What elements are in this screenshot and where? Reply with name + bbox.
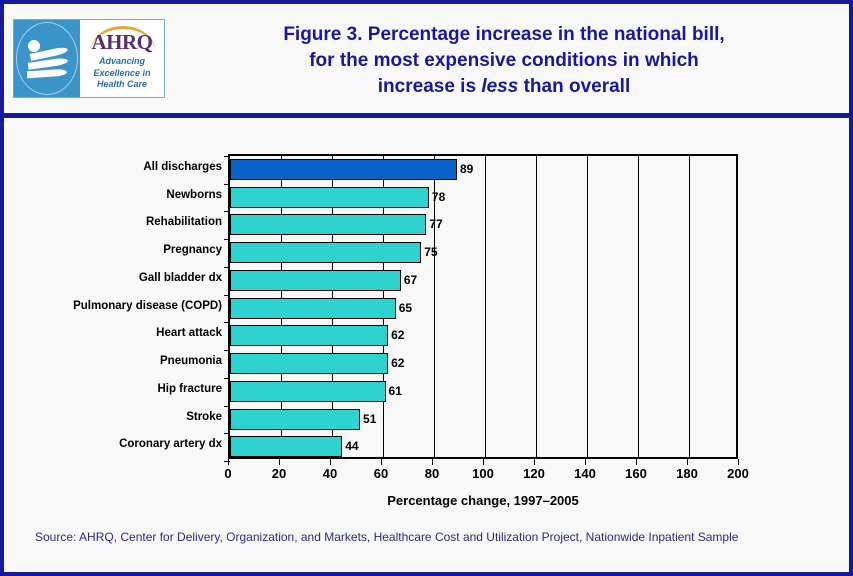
x-tick-label-100: 100	[472, 466, 494, 481]
x-tick-mark-0	[228, 459, 229, 465]
bar-value-label: 62	[388, 353, 404, 374]
x-tick-label-180: 180	[676, 466, 698, 481]
figure-title-line-2: for the most expensive conditions in whi…	[169, 48, 839, 74]
y-axis-label-rehabilitation: Rehabilitation	[4, 212, 222, 233]
figure-title-line-3-post: than overall	[518, 76, 630, 97]
x-tick-mark-160	[636, 459, 637, 465]
y-tick-mark	[224, 295, 230, 296]
y-tick-mark	[224, 322, 230, 323]
x-tick-mark-40	[330, 459, 331, 465]
x-tick-mark-120	[534, 459, 535, 465]
x-tick-mark-200	[738, 459, 739, 465]
x-axis-title: Percentage change, 1997–2005	[228, 493, 738, 508]
ahrq-wordmark-block: AHRQ Advancing Excellence in Health Care	[80, 20, 164, 97]
figure-title-line-1: Figure 3. Percentage increase in the nat…	[169, 22, 839, 48]
y-axis-label-hip-fracture: Hip fracture	[4, 379, 222, 400]
bar-row: 77	[230, 211, 736, 239]
bar-row: 67	[230, 267, 736, 295]
y-axis-label-stroke: Stroke	[4, 407, 222, 428]
x-tick-label-0: 0	[224, 466, 231, 481]
x-tick-mark-20	[279, 459, 280, 465]
bar-value-label: 75	[421, 242, 437, 263]
hhs-department-seal-icon	[14, 20, 80, 97]
x-tick-label-160: 160	[625, 466, 647, 481]
seal-bird-head	[28, 40, 40, 52]
bar-row: 51	[230, 406, 736, 434]
ahrq-tagline: Advancing Excellence in Health Care	[80, 56, 164, 91]
bar-row: 62	[230, 350, 736, 378]
bar-series: 8978777567656262615144	[230, 156, 736, 457]
x-tick-mark-60	[381, 459, 382, 465]
y-axis-label-pregnancy: Pregnancy	[4, 240, 222, 261]
bar-value-label: 44	[342, 436, 358, 457]
x-tick-mark-80	[432, 459, 433, 465]
x-tick-label-200: 200	[727, 466, 749, 481]
bar-row: 78	[230, 184, 736, 212]
figure-title-line-3-pre: increase is	[378, 76, 482, 97]
figure-page: AHRQ Advancing Excellence in Health Care…	[0, 0, 853, 576]
ahrq-wordmark: AHRQ	[80, 30, 164, 55]
figure-title-emphasis: less	[481, 76, 518, 97]
bar-rehabilitation	[230, 214, 426, 235]
x-tick-mark-140	[585, 459, 586, 465]
y-tick-mark	[224, 211, 230, 212]
bar-pulmonary-disease-copd	[230, 298, 396, 319]
bar-heart-attack	[230, 325, 388, 346]
y-tick-mark	[224, 350, 230, 351]
y-axis-label-gall-bladder-dx: Gall bladder dx	[4, 268, 222, 289]
bar-value-label: 77	[426, 214, 442, 235]
y-axis-label-heart-attack: Heart attack	[4, 323, 222, 344]
x-tick-label-120: 120	[523, 466, 545, 481]
bar-newborns	[230, 187, 429, 208]
bar-row: 89	[230, 156, 736, 184]
bar-pregnancy	[230, 242, 421, 263]
y-axis-label-pulmonary-disease-copd: Pulmonary disease (COPD)	[4, 296, 222, 317]
bar-pneumonia	[230, 353, 388, 374]
y-tick-mark	[224, 433, 230, 434]
y-tick-mark	[224, 239, 230, 240]
y-tick-mark	[224, 267, 230, 268]
x-tick-mark-100	[483, 459, 484, 465]
y-tick-mark	[224, 184, 230, 185]
bar-all-discharges	[230, 159, 457, 180]
bar-row: 75	[230, 239, 736, 267]
y-axis-label-pneumonia: Pneumonia	[4, 351, 222, 372]
y-tick-mark	[224, 406, 230, 407]
figure-header: AHRQ Advancing Excellence in Health Care…	[4, 4, 849, 113]
bar-value-label: 89	[457, 159, 473, 180]
bar-row: 65	[230, 295, 736, 323]
figure-title: Figure 3. Percentage increase in the nat…	[169, 22, 839, 100]
y-axis-label-coronary-artery-dx: Coronary artery dx	[4, 434, 222, 455]
y-tick-mark	[224, 378, 230, 379]
y-axis-category-labels: All dischargesNewbornsRehabilitationPreg…	[4, 154, 222, 459]
y-tick-mark	[224, 156, 230, 157]
bar-value-label: 61	[386, 381, 402, 402]
bar-value-label: 78	[429, 187, 445, 208]
x-tick-label-140: 140	[574, 466, 596, 481]
bar-value-label: 67	[401, 270, 417, 291]
x-tick-label-60: 60	[374, 466, 388, 481]
ahrq-tagline-line-3: Health Care	[80, 79, 164, 91]
bar-hip-fracture	[230, 381, 386, 402]
x-tick-label-40: 40	[323, 466, 337, 481]
ahrq-tagline-line-2: Excellence in	[80, 68, 164, 80]
plot-area: 8978777567656262615144	[228, 154, 738, 459]
figure-title-line-3: increase is less than overall	[169, 74, 839, 100]
bar-value-label: 65	[396, 298, 412, 319]
x-tick-mark-180	[687, 459, 688, 465]
bar-coronary-artery-dx	[230, 436, 342, 457]
bar-value-label: 51	[360, 409, 376, 430]
bar-row: 61	[230, 378, 736, 406]
ahrq-logo: AHRQ Advancing Excellence in Health Care	[13, 19, 165, 98]
y-axis-label-all-discharges: All discharges	[4, 157, 222, 178]
seal-ring	[16, 22, 78, 95]
ahrq-tagline-line-1: Advancing	[80, 56, 164, 68]
x-axis-ticks: 020406080100120140160180200	[228, 459, 738, 489]
bar-chart: All dischargesNewbornsRehabilitationPreg…	[4, 118, 849, 572]
source-note: Source: AHRQ, Center for Delivery, Organ…	[35, 530, 738, 544]
bar-gall-bladder-dx	[230, 270, 401, 291]
bar-row: 44	[230, 433, 736, 461]
bar-stroke	[230, 409, 360, 430]
bar-row: 62	[230, 322, 736, 350]
y-axis-label-newborns: Newborns	[4, 185, 222, 206]
x-tick-label-20: 20	[272, 466, 286, 481]
bar-value-label: 62	[388, 325, 404, 346]
x-tick-label-80: 80	[425, 466, 439, 481]
